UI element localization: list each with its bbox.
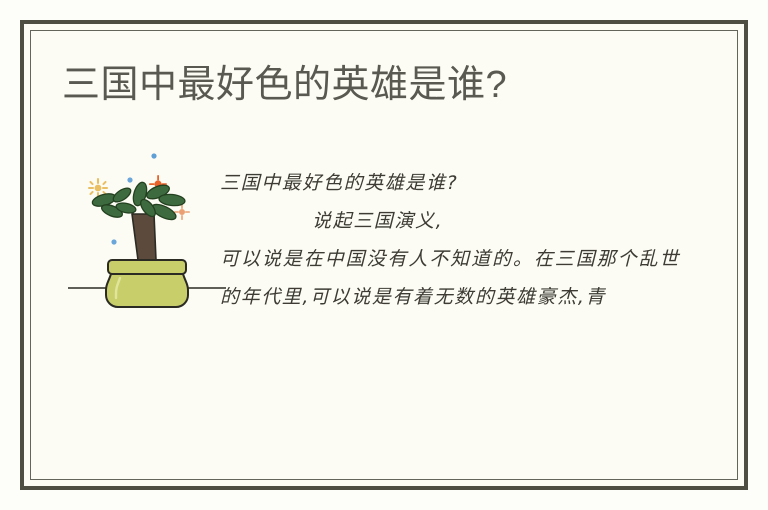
pot-rim bbox=[108, 260, 186, 274]
article-line-1: 三国中最好色的英雄是谁? bbox=[220, 164, 680, 202]
article-line-2: 说起三国演义, bbox=[220, 202, 680, 240]
blue-dot-low-icon bbox=[111, 239, 116, 244]
article-body: 三国中最好色的英雄是谁? 说起三国演义, 可以说是在中国没有人不知道的。在三国那… bbox=[220, 164, 680, 316]
article-card: 三国中最好色的英雄是谁? bbox=[20, 20, 748, 490]
blue-dot-top-icon bbox=[151, 153, 156, 158]
blue-dot-mid-icon bbox=[127, 177, 132, 182]
article-line-rest: 可以说是在中国没有人不知道的。在三国那个乱世的年代里,可以说是有着无数的英雄豪杰… bbox=[220, 240, 680, 316]
potted-plant-illustration bbox=[62, 142, 232, 312]
pot-body bbox=[106, 274, 188, 307]
plant-trunk bbox=[132, 214, 156, 260]
page-title: 三国中最好色的英雄是谁? bbox=[62, 64, 507, 108]
